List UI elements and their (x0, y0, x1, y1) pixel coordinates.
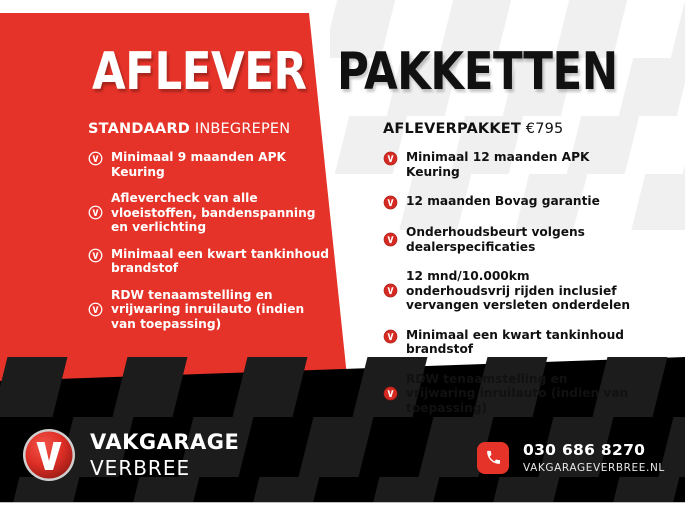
check-v-circle-icon (383, 329, 398, 344)
list-item-label: Minimaal een kwart tankinhoud brandstof (406, 328, 633, 357)
check-v-circle-icon (88, 302, 103, 317)
company-logo: VAKGARAGE VERBREE (22, 428, 239, 482)
left-subheader-light: INBEGREPEN (195, 121, 290, 137)
right-subheader-strong: AFLEVERPAKKET (383, 121, 521, 137)
list-item: Minimaal een kwart tankinhoud brandstof (383, 328, 633, 357)
left-column-subheader: STANDAARD INBEGREPEN (88, 121, 290, 137)
website-url[interactable]: VAKGARAGEVERBREE.NL (523, 462, 665, 474)
check-v-circle-icon (383, 283, 398, 298)
check-v-circle-icon (383, 386, 398, 401)
list-item: Minimaal 9 maanden APK Keuring (88, 150, 333, 179)
list-item-label: Minimaal 9 maanden APK Keuring (111, 150, 333, 179)
logo-line-1: VAKGARAGE (90, 432, 239, 453)
list-item-label: Minimaal 12 maanden APK Keuring (406, 150, 633, 179)
check-v-circle-icon (383, 283, 398, 298)
check-v-circle-icon (383, 151, 398, 166)
promo-poster: AFLEVER PAKKETTEN STANDAARD INBEGREPEN A… (0, 0, 685, 514)
list-item-label: RDW tenaamstelling en vrijwaring inruila… (111, 288, 333, 332)
check-v-circle-icon (88, 302, 103, 317)
list-item: RDW tenaamstelling en vrijwaring inruila… (383, 372, 633, 416)
list-item-label: Minimaal een kwart tankinhoud brandstof (111, 247, 333, 276)
headline-word-aflever: AFLEVER (92, 42, 307, 102)
list-item: 12 mnd/10.000km onderhoudsvrij rijden in… (383, 269, 633, 313)
list-item-label: Aflevercheck van alle vloeistoffen, band… (111, 191, 333, 235)
list-item-label: Onderhoudsbeurt volgens dealerspecificat… (406, 225, 633, 254)
left-subheader-strong: STANDAARD (88, 121, 190, 137)
phone-icon (485, 449, 502, 466)
right-subheader-price: €795 (526, 121, 564, 137)
check-v-circle-icon (383, 195, 398, 210)
check-v-circle-icon (88, 151, 103, 166)
logo-line-2: VERBREE (90, 458, 239, 478)
check-v-circle-icon (383, 232, 398, 247)
list-item: Minimaal 12 maanden APK Keuring (383, 150, 633, 179)
afleverpakket-list: Minimaal 12 maanden APK Keuring 12 maand… (383, 150, 633, 430)
list-item: Aflevercheck van alle vloeistoffen, band… (88, 191, 333, 235)
list-item: Minimaal een kwart tankinhoud brandstof (88, 247, 333, 276)
check-v-circle-icon (383, 329, 398, 344)
phone-number[interactable]: 030 686 8270 (523, 441, 665, 459)
check-v-circle-icon (88, 205, 103, 220)
list-item-label: 12 mnd/10.000km onderhoudsvrij rijden in… (406, 269, 633, 313)
logo-wordmark: VAKGARAGE VERBREE (90, 432, 239, 478)
bottom-white-strip (0, 502, 685, 514)
list-item-label: RDW tenaamstelling en vrijwaring inruila… (406, 372, 633, 416)
headline: AFLEVER PAKKETTEN (0, 42, 685, 104)
check-v-circle-icon (88, 205, 103, 220)
right-column-subheader: AFLEVERPAKKET €795 (383, 121, 563, 137)
vakgarage-v-logo-icon (22, 428, 76, 482)
check-v-circle-icon (383, 195, 398, 210)
check-v-circle-icon (383, 151, 398, 166)
contact-info[interactable]: 030 686 8270 VAKGARAGEVERBREE.NL (477, 441, 665, 474)
list-item: 12 maanden Bovag garantie (383, 194, 633, 210)
check-v-circle-icon (383, 386, 398, 401)
phone-icon-badge (477, 442, 509, 474)
headline-word-pakketten: PAKKETTEN (337, 42, 618, 102)
check-v-circle-icon (88, 248, 103, 263)
check-v-circle-icon (383, 232, 398, 247)
list-item: Onderhoudsbeurt volgens dealerspecificat… (383, 225, 633, 254)
check-v-circle-icon (88, 248, 103, 263)
contact-text: 030 686 8270 VAKGARAGEVERBREE.NL (523, 441, 665, 474)
list-item: RDW tenaamstelling en vrijwaring inruila… (88, 288, 333, 332)
standaard-inbegrepen-list: Minimaal 9 maanden APK Keuring Afleverch… (88, 150, 333, 343)
check-v-circle-icon (88, 151, 103, 166)
list-item-label: 12 maanden Bovag garantie (406, 194, 600, 209)
